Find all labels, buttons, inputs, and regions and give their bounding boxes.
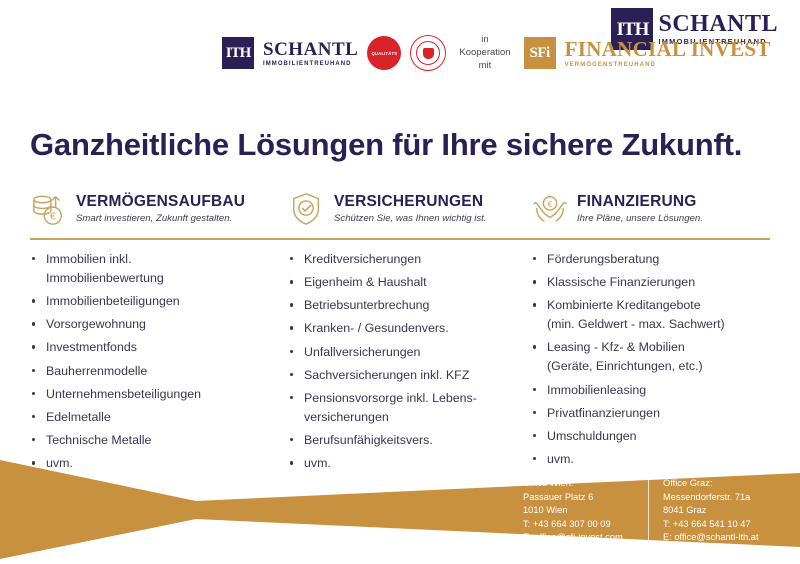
cooperation-label: in Kooperation mit xyxy=(455,34,514,72)
list-item-cont: (Geräte, Einrichtungen, etc.) xyxy=(547,357,770,376)
list-item-text: Investmentfonds xyxy=(46,340,137,354)
service-list: Förderungsberatung Klassische Finanzieru… xyxy=(531,250,770,469)
list-item: Immobilienbeteiligungen xyxy=(30,292,288,311)
list-item-text: Privatfinanzierungen xyxy=(547,406,660,420)
column-title: FINANZIERUNG xyxy=(577,193,703,210)
office-name: Office Graz: xyxy=(663,477,759,491)
flyer-page: ITH SCHANTL IMMOBILIENTREUHAND ITH SCHAN… xyxy=(0,0,800,564)
office-email[interactable]: E: office@sfi-invest.com xyxy=(523,531,648,545)
column-title-group: VERSICHERUNGEN Schützen Sie, was Ihnen w… xyxy=(334,193,487,224)
list-item-text: Bauherrenmodelle xyxy=(46,364,147,378)
list-item-text: Leasing - Kfz- & Mobilien xyxy=(547,340,685,354)
list-item-text: Immobilienbeteiligungen xyxy=(46,294,180,308)
list-item-text: Edelmetalle xyxy=(46,410,111,424)
financial-invest-subtitle: VERMÖGENSTREUHAND xyxy=(565,62,771,68)
list-item: Privatfinanzierungen xyxy=(531,404,770,423)
list-item-text: Unfallversicherungen xyxy=(304,345,420,359)
sfi-monogram-text: SFi xyxy=(530,45,550,62)
column-title: VERSICHERUNGEN xyxy=(334,193,487,210)
list-item-text: Vorsorgewohnung xyxy=(46,317,146,331)
list-item-text: Sachversicherungen inkl. KFZ xyxy=(304,368,469,382)
list-item: Leasing - Kfz- & Mobilien(Geräte, Einric… xyxy=(531,338,770,376)
list-item-text: Klassische Finanzierungen xyxy=(547,275,695,289)
list-item-text: Unternehmensbeteiligungen xyxy=(46,387,201,401)
list-item: Vorsorgewohnung xyxy=(30,315,288,334)
list-item: Kranken- / Gesundenvers. xyxy=(288,319,531,338)
financial-invest-wordmark: FINANCIAL INVEST VERMÖGENSTREUHAND xyxy=(565,39,771,68)
list-item-text: Kombinierte Kreditangebote xyxy=(547,298,701,312)
qualitaetsmakler-seal-text: QUALITÄTS xyxy=(371,51,397,56)
office-phone[interactable]: T: +43 664 541 10 47 xyxy=(663,518,759,532)
shield-check-icon xyxy=(288,191,326,227)
list-item-text: Kreditversicherungen xyxy=(304,252,421,266)
list-item: Berufsunfähigkeitsvers. xyxy=(288,431,531,450)
column-title: VERMÖGENSAUFBAU xyxy=(76,193,245,210)
column-header: € FINANZIERUNG Ihre Pläne, unsere Lösung… xyxy=(531,188,770,230)
service-columns: € VERMÖGENSAUFBAU Smart investieren, Zuk… xyxy=(30,188,770,477)
wko-seal-crest xyxy=(423,48,434,59)
schantl-name-center: SCHANTL xyxy=(263,40,358,59)
list-item: Förderungsberatung xyxy=(531,250,770,269)
list-item: Eigenheim & Haushalt xyxy=(288,273,531,292)
list-item-cont: Immobilienbewertung xyxy=(46,269,288,288)
svg-text:€: € xyxy=(548,199,553,209)
column-finanzierung: € FINANZIERUNG Ihre Pläne, unsere Lösung… xyxy=(531,188,770,477)
schantl-name: SCHANTL xyxy=(658,12,778,36)
column-subtitle: Schützen Sie, was Ihnen wichtig ist. xyxy=(334,214,487,225)
column-header: VERSICHERUNGEN Schützen Sie, was Ihnen w… xyxy=(288,188,531,230)
list-item: Edelmetalle xyxy=(30,408,288,427)
list-item-text: Betriebsunterbrechung xyxy=(304,298,429,312)
svg-text:€: € xyxy=(50,211,56,222)
list-item: Investmentfonds xyxy=(30,338,288,357)
list-item-text: Umschuldungen xyxy=(547,429,637,443)
service-list: Immobilien inkl.Immobilienbewertung Immo… xyxy=(30,250,288,473)
sfi-monogram-block: SFi xyxy=(524,37,556,69)
list-item: Immobilienleasing xyxy=(531,381,770,400)
column-header: € VERMÖGENSAUFBAU Smart investieren, Zuk… xyxy=(30,188,288,230)
office-graz-block: Office Graz: Messendorferstr. 71a 8041 G… xyxy=(648,477,759,545)
wko-seal-ring xyxy=(416,41,440,65)
list-item-text: Eigenheim & Haushalt xyxy=(304,275,427,289)
list-item: Klassische Finanzierungen xyxy=(531,273,770,292)
coins-euro-growth-icon: € xyxy=(30,191,68,227)
office-name: Office Wien: xyxy=(523,477,648,491)
list-item-text: Berufsunfähigkeitsvers. xyxy=(304,433,433,447)
office-street: Passauer Platz 6 xyxy=(523,491,648,505)
list-item-text: Förderungsberatung xyxy=(547,252,659,266)
list-item-text: Technische Metalle xyxy=(46,433,151,447)
office-email[interactable]: E: office@schantl-ith.at xyxy=(663,531,759,545)
list-item: Immobilien inkl.Immobilienbewertung xyxy=(30,250,288,288)
list-item: Unfallversicherungen xyxy=(288,343,531,362)
list-item: Betriebsunterbrechung xyxy=(288,296,531,315)
list-item: Kombinierte Kreditangebote(min. Geldwert… xyxy=(531,296,770,334)
ith-monogram-block-center: ITH xyxy=(222,37,254,69)
list-item-text: Immobilienleasing xyxy=(547,383,646,397)
column-title-group: VERMÖGENSAUFBAU Smart investieren, Zukun… xyxy=(76,193,245,224)
list-item: Kreditversicherungen xyxy=(288,250,531,269)
logo-partner-row: ITH SCHANTL IMMOBILIENTREUHAND QUALITÄTS… xyxy=(222,34,771,72)
page-headline: Ganzheitliche Lösungen für Ihre sichere … xyxy=(30,127,742,163)
office-city: 1010 Wien xyxy=(523,504,648,518)
list-item-cont: (min. Geldwert - max. Sachwert) xyxy=(547,315,770,334)
list-item: Technische Metalle xyxy=(30,431,288,450)
list-item-text: Immobilien inkl. xyxy=(46,252,131,266)
ith-monogram-text-center: ITH xyxy=(226,46,251,61)
list-item: Umschuldungen xyxy=(531,427,770,446)
gold-divider-rule xyxy=(30,238,770,240)
financial-invest-name: FINANCIAL INVEST xyxy=(565,39,771,60)
column-vermoegensaufbau: € VERMÖGENSAUFBAU Smart investieren, Zuk… xyxy=(30,188,288,477)
office-phone[interactable]: T: +43 664 307 00 09 xyxy=(523,518,648,532)
list-item-text: Pensionsvorsorge inkl. Lebens- xyxy=(304,391,477,405)
column-subtitle: Ihre Pläne, unsere Lösungen. xyxy=(577,214,703,225)
service-list: Kreditversicherungen Eigenheim & Haushal… xyxy=(288,250,531,473)
list-item: Bauherrenmodelle xyxy=(30,362,288,381)
list-item-cont: versicherungen xyxy=(304,408,531,427)
office-wien-block: Office Wien: Passauer Platz 6 1010 Wien … xyxy=(523,477,648,545)
list-item: Sachversicherungen inkl. KFZ xyxy=(288,366,531,385)
wko-seal-icon xyxy=(410,35,446,71)
schantl-subtitle-center: IMMOBILIENTREUHAND xyxy=(263,61,358,67)
hands-holding-coin-icon: € xyxy=(531,191,569,227)
office-street: Messendorferstr. 71a xyxy=(663,491,759,505)
logo-bar: ITH SCHANTL IMMOBILIENTREUHAND ITH SCHAN… xyxy=(0,0,800,108)
qualitaetsmakler-seal-icon: QUALITÄTS xyxy=(367,36,401,70)
footer-contact-blocks: Office Wien: Passauer Platz 6 1010 Wien … xyxy=(523,477,759,545)
column-title-group: FINANZIERUNG Ihre Pläne, unsere Lösungen… xyxy=(577,193,703,224)
list-item-text: Kranken- / Gesundenvers. xyxy=(304,321,449,335)
list-item: Pensionsvorsorge inkl. Lebens-versicheru… xyxy=(288,389,531,427)
column-subtitle: Smart investieren, Zukunft gestalten. xyxy=(76,214,245,225)
schantl-wordmark-center: SCHANTL IMMOBILIENTREUHAND xyxy=(263,40,358,67)
list-item: Unternehmensbeteiligungen xyxy=(30,385,288,404)
column-versicherungen: VERSICHERUNGEN Schützen Sie, was Ihnen w… xyxy=(288,188,531,477)
office-city: 8041 Graz xyxy=(663,504,759,518)
